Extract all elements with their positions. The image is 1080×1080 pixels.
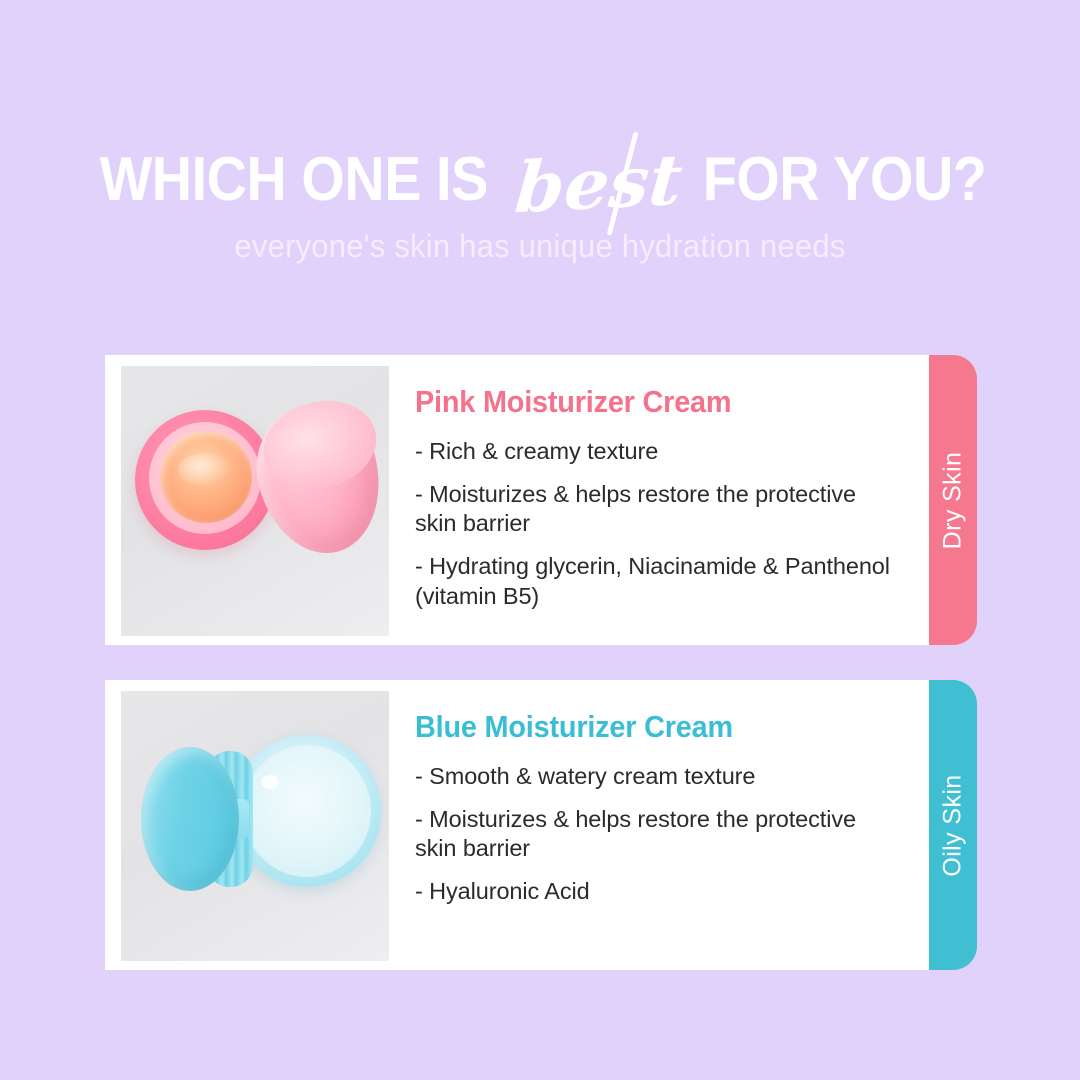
blue-card-bullets: - Smooth & watery cream texture - Moistu… xyxy=(415,762,896,906)
blue-jar-cream-icon xyxy=(243,745,371,877)
pink-card-bullets: - Rich & creamy texture - Moisturizes & … xyxy=(415,437,896,611)
pink-card-title: Pink Moisturizer Cream xyxy=(415,385,862,419)
blue-jar-bubble-icon xyxy=(261,775,279,789)
skin-type-tab-label: Oily Skin xyxy=(939,774,968,876)
list-item: - Hydrating glycerin, Niacinamide & Pant… xyxy=(415,552,896,611)
pink-jar-photo xyxy=(121,366,389,636)
blue-jar-photo xyxy=(121,691,389,961)
list-item: - Moisturizes & helps restore the protec… xyxy=(415,805,896,864)
skin-type-tab-oily[interactable]: Oily Skin xyxy=(929,680,977,970)
list-item: - Hyaluronic Acid xyxy=(415,877,896,907)
product-card-pink[interactable]: Pink Moisturizer Cream - Rich & creamy t… xyxy=(105,355,930,645)
page-subtitle: everyone's skin has unique hydration nee… xyxy=(16,228,1064,265)
page-title: WHICH ONE IS best FOR YOU? xyxy=(0,140,1080,220)
page-title-part-1: WHICH ONE IS xyxy=(100,149,488,211)
skin-type-tab-label: Dry Skin xyxy=(939,451,968,549)
list-item: - Rich & creamy texture xyxy=(415,437,896,467)
pink-cream-icon xyxy=(160,431,252,523)
product-card-blue[interactable]: Blue Moisturizer Cream - Smooth & watery… xyxy=(105,680,930,970)
pink-card-body: Pink Moisturizer Cream - Rich & creamy t… xyxy=(389,355,930,624)
page-title-part-2: FOR YOU? xyxy=(702,149,986,211)
list-item: - Moisturizes & helps restore the protec… xyxy=(415,480,896,539)
blue-card-body: Blue Moisturizer Cream - Smooth & watery… xyxy=(389,680,930,920)
list-item: - Smooth & watery cream texture xyxy=(415,762,896,792)
blue-jar-lid-icon xyxy=(141,747,239,891)
page-title-script-word: best xyxy=(506,144,690,223)
skin-type-tab-dry[interactable]: Dry Skin xyxy=(929,355,977,645)
blue-card-title: Blue Moisturizer Cream xyxy=(415,710,862,744)
